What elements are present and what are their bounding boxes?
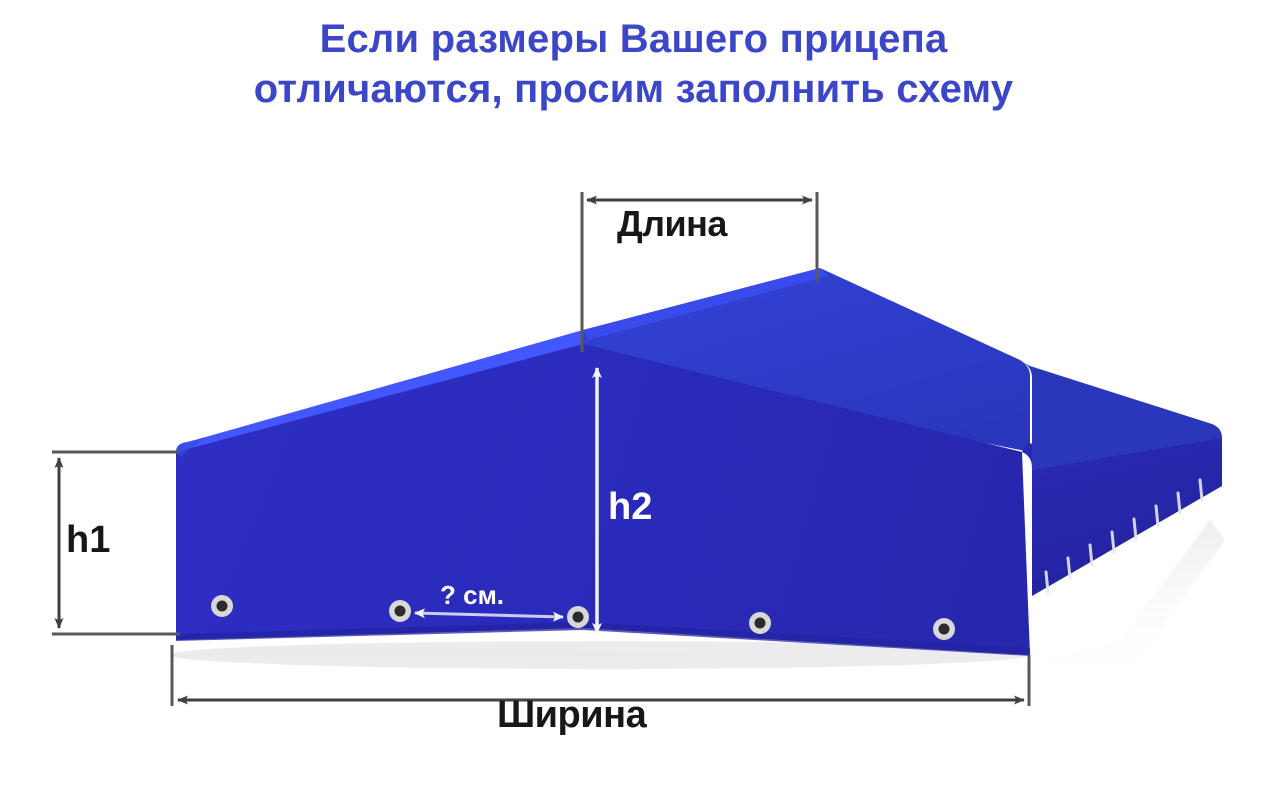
trailer-cover-diagram: [0, 0, 1267, 789]
width-label: Ширина: [497, 694, 646, 737]
height-front-label: h1: [66, 519, 110, 562]
diagram-page: Если размеры Вашего прицепа отличаются, …: [0, 0, 1267, 789]
grommet: [211, 595, 233, 617]
grommet: [567, 606, 589, 628]
height-peak-label: h2: [608, 486, 652, 529]
length-label: Длина: [617, 203, 727, 245]
cover-body: [176, 268, 1222, 656]
grommet-spacing-label: ? см.: [440, 580, 504, 611]
grommet: [933, 618, 955, 640]
grommet: [389, 600, 411, 622]
grommet: [749, 612, 771, 634]
